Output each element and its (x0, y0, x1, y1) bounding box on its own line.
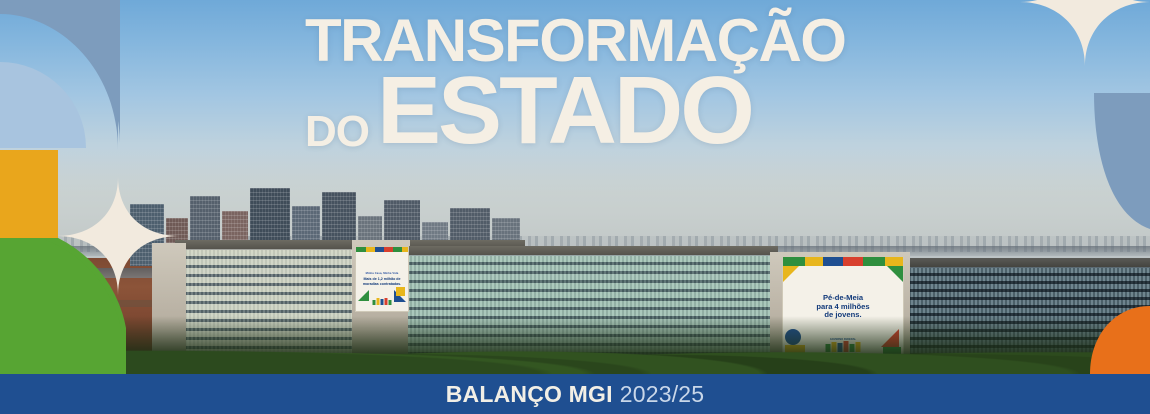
bottom-right-orange-shape (1090, 306, 1150, 374)
top-left-arc-inner (0, 0, 120, 152)
headline-line-2: DO ESTADO (305, 68, 885, 154)
headline-word-estado: ESTADO (377, 68, 752, 154)
billboard-left-logo (373, 298, 392, 305)
billboard-minha-casa: Minha Casa, Minha Vida Mais de 1,2 milhã… (355, 246, 409, 312)
yellow-accent-rect (0, 150, 58, 238)
billboard-left-kicker: Minha Casa, Minha Vida (366, 272, 399, 275)
footer-title-bold: BALANÇO MGI (446, 381, 613, 408)
tree-line (0, 316, 1150, 374)
transformacao-do-estado-banner: Minha Casa, Minha Vida Mais de 1,2 milhã… (0, 0, 1150, 414)
sparkle-star-left (57, 177, 179, 295)
right-quarter-circle-shape (1086, 93, 1150, 229)
headline-word-do: DO (305, 112, 377, 154)
footer-bar: BALANÇO MGI 2023/25 (0, 374, 1150, 414)
footer-title-light: 2023/25 (620, 381, 705, 408)
headline: TRANSFORMAÇÃO DO ESTADO (305, 12, 885, 154)
billboard-left-line2: moradias contratadas. (363, 282, 401, 286)
sparkle-star-top-right (1020, 0, 1150, 66)
